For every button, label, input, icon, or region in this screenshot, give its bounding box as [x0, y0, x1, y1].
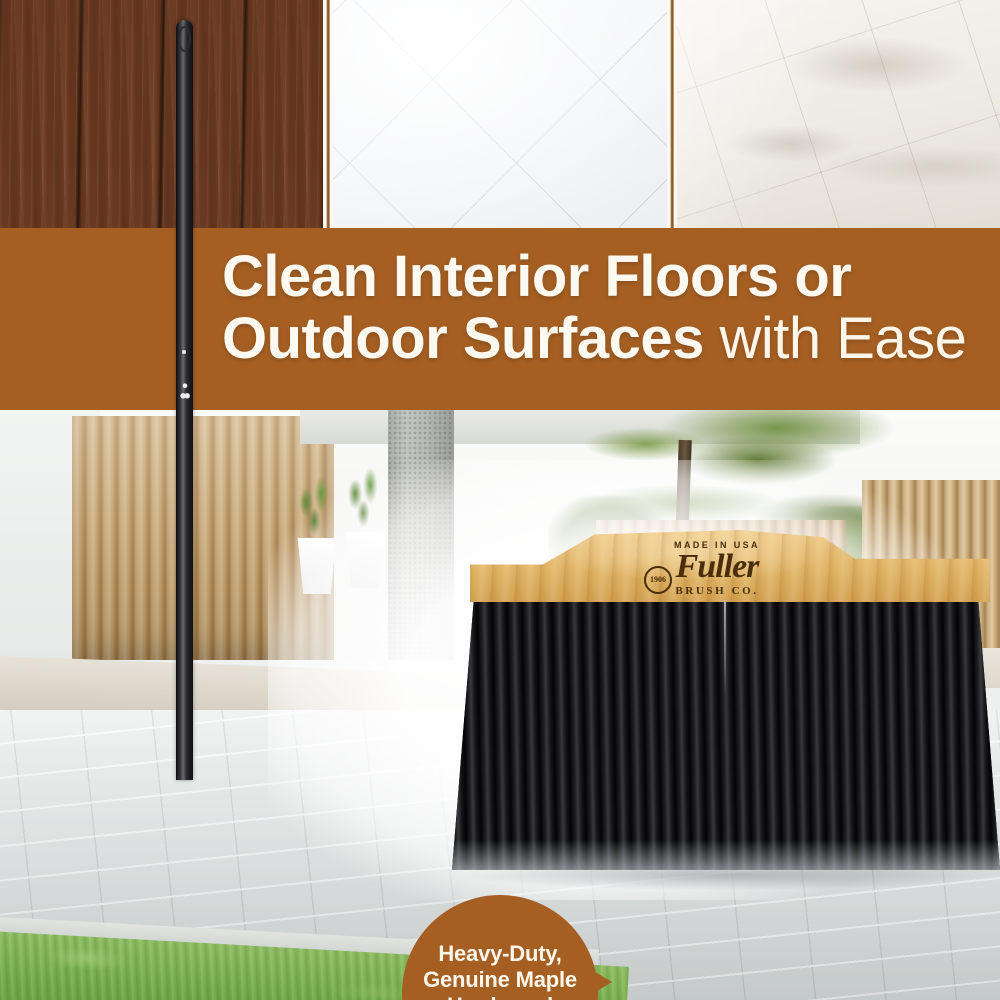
callout-line-1: Heavy-Duty, [423, 941, 577, 967]
headline-text: Clean Interior Floors or Outdoor Surface… [222, 246, 992, 370]
broom-head-closeup: MADE IN USA Fuller 1906 BRUSH CO. [452, 530, 1000, 880]
headline-line-1: Clean Interior Floors or [222, 246, 992, 308]
patio-scene: MADE IN USA Fuller 1906 BRUSH CO. Heavy-… [0, 410, 1000, 1000]
fuller-wordmark: Fuller [602, 550, 832, 585]
headline-banner: Clean Interior Floors or Outdoor Surface… [0, 228, 1000, 410]
callout-circle: Heavy-Duty, Genuine Maple Hardwood Block [402, 895, 598, 1000]
callout-line-2: Genuine Maple [423, 967, 577, 993]
broom-handle [176, 20, 193, 780]
panel-divider-1 [323, 0, 333, 232]
handle-marking-dot [182, 350, 186, 354]
product-marketing-image: MADE IN USA Fuller 1906 BRUSH CO. Heavy-… [0, 0, 1000, 1000]
handle-label-sticker [179, 380, 191, 402]
feature-callout-badge: Heavy-Duty, Genuine Maple Hardwood Block [402, 895, 598, 1000]
est-1906-seal: 1906 [644, 566, 672, 594]
flooring-panel-marble [677, 0, 1000, 232]
brush-co-label: BRUSH CO. [602, 585, 832, 597]
headline-line-2-light: with Ease [704, 306, 967, 371]
broom-bristles-large [452, 598, 1000, 870]
callout-line-3: Hardwood [423, 993, 577, 1000]
panel-divider-2 [667, 0, 677, 232]
callout-text: Heavy-Duty, Genuine Maple Hardwood Block [409, 941, 591, 1000]
flooring-surface-strip [0, 0, 1000, 232]
headline-line-2-bold: Outdoor Surfaces [222, 306, 704, 371]
fuller-brush-logo-large: MADE IN USA Fuller 1906 BRUSH CO. [602, 540, 832, 598]
handle-hang-hole [178, 26, 191, 52]
broom-bristle-seam [724, 600, 726, 696]
flooring-panel-white-tile [333, 0, 666, 232]
flooring-panel-hardwood [0, 0, 323, 232]
